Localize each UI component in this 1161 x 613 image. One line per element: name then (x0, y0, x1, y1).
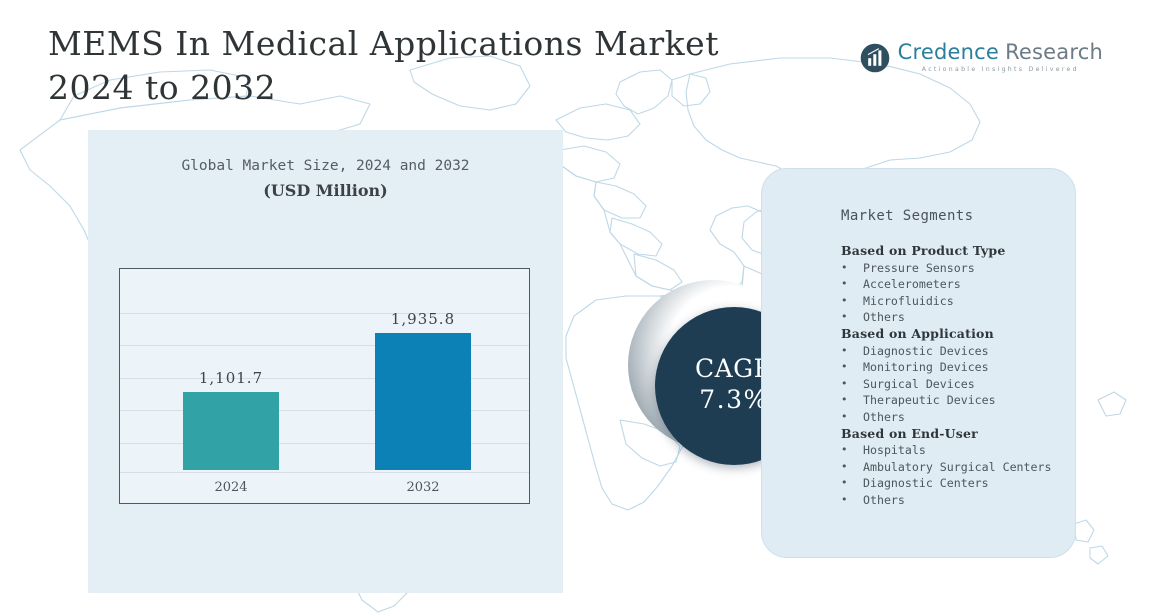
segment-item-label: Others (863, 409, 1071, 426)
segment-item: •Microfluidics (841, 293, 1071, 310)
bar-chart-plot: 1,101.7 1,935.8 2024 2032 (119, 268, 530, 504)
bar-2024 (183, 392, 279, 470)
bullet-icon: • (841, 376, 863, 393)
bullet-icon: • (841, 475, 863, 492)
segment-item: •Others (841, 409, 1071, 426)
segment-item-label: Accelerometers (863, 276, 1071, 293)
segment-item: •Surgical Devices (841, 376, 1071, 393)
cagr-value: 7.3% (699, 384, 769, 417)
category-label-2032: 2032 (375, 480, 471, 495)
bullet-icon: • (841, 293, 863, 310)
segment-item: •Diagnostic Devices (841, 343, 1071, 360)
segment-item-label: Pressure Sensors (863, 260, 1071, 277)
gridline (120, 472, 529, 473)
logo-tagline: Actionable Insights Delivered (898, 67, 1103, 73)
bullet-icon: • (841, 359, 863, 376)
segment-item-label: Diagnostic Devices (863, 343, 1071, 360)
bar-2032 (375, 333, 471, 470)
bar-value-2024: 1,101.7 (173, 369, 289, 387)
bar-value-2032: 1,935.8 (365, 310, 481, 328)
bullet-icon: • (841, 442, 863, 459)
segment-item-label: Ambulatory Surgical Centers (863, 459, 1071, 476)
category-label-2024: 2024 (183, 480, 279, 495)
segment-item: •Therapeutic Devices (841, 392, 1071, 409)
segment-group-title: Based on Product Type (841, 243, 1071, 260)
chart-title: Global Market Size, 2024 and 2032 (88, 158, 563, 174)
segment-item-label: Others (863, 309, 1071, 326)
segment-item: •Accelerometers (841, 276, 1071, 293)
page-title: MEMS In Medical Applications Market 2024… (48, 22, 768, 110)
segment-item: •Others (841, 492, 1071, 509)
infographic-page: MEMS In Medical Applications Market 2024… (0, 0, 1161, 613)
segment-item-label: Surgical Devices (863, 376, 1071, 393)
logo-wordmark: CredenceResearch Actionable Insights Del… (898, 42, 1103, 73)
segment-item: •Pressure Sensors (841, 260, 1071, 277)
segment-item: •Ambulatory Surgical Centers (841, 459, 1071, 476)
market-segments-list: Based on Product Type•Pressure Sensors•A… (841, 243, 1071, 509)
segment-item: •Diagnostic Centers (841, 475, 1071, 492)
bullet-icon: • (841, 276, 863, 293)
segment-item: •Monitoring Devices (841, 359, 1071, 376)
market-segments-heading: Market Segments (841, 208, 973, 224)
segment-item: •Others (841, 309, 1071, 326)
segment-item-label: Monitoring Devices (863, 359, 1071, 376)
logo-name-row: CredenceResearch (898, 42, 1103, 63)
bullet-icon: • (841, 392, 863, 409)
bullet-icon: • (841, 492, 863, 509)
segment-group-title: Based on Application (841, 326, 1071, 343)
brand-logo: CredenceResearch Actionable Insights Del… (860, 42, 1103, 73)
segment-item-label: Others (863, 492, 1071, 509)
chart-subtitle: (USD Million) (88, 181, 563, 200)
logo-name-primary: Credence (898, 40, 999, 64)
bullet-icon: • (841, 343, 863, 360)
segment-item-label: Therapeutic Devices (863, 392, 1071, 409)
segment-item-label: Microfluidics (863, 293, 1071, 310)
bullet-icon: • (841, 309, 863, 326)
segment-item: •Hospitals (841, 442, 1071, 459)
segment-item-label: Hospitals (863, 442, 1071, 459)
bullet-icon: • (841, 459, 863, 476)
bar-chart-circle-icon (860, 43, 890, 73)
bullet-icon: • (841, 260, 863, 277)
segment-group-title: Based on End-User (841, 426, 1071, 443)
segment-item-label: Diagnostic Centers (863, 475, 1071, 492)
bullet-icon: • (841, 409, 863, 426)
logo-name-secondary: Research (1005, 40, 1103, 64)
